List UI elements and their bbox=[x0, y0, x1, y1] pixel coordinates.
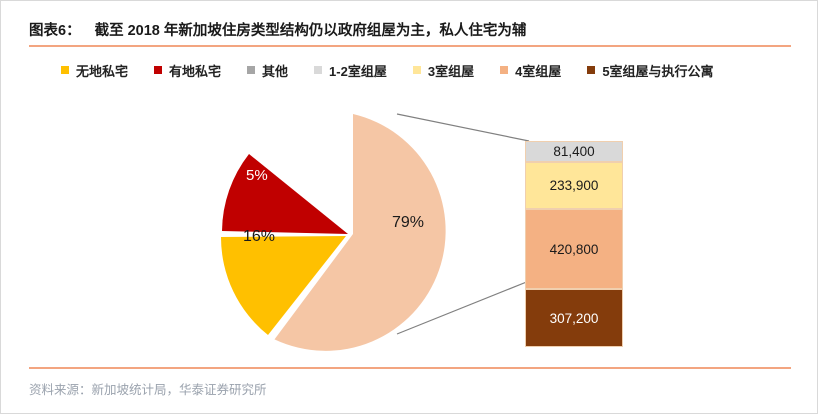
chart-legend: 无地私宅 有地私宅 其他 1-2室组屋 3室组屋 4室组屋 5室组屋与执行公寓 bbox=[61, 59, 806, 81]
figure-container: 图表6： 截至 2018 年新加坡住房类型结构仍以政府组屋为主，私人住宅为辅 无… bbox=[0, 0, 818, 414]
legend-label: 4室组屋 bbox=[515, 61, 561, 80]
legend-label: 5室组屋与执行公寓 bbox=[602, 61, 713, 80]
legend-label: 1-2室组屋 bbox=[329, 61, 387, 80]
legend-item-you-di-si-zhai[interactable]: 有地私宅 bbox=[154, 61, 221, 80]
footer-divider bbox=[29, 367, 791, 369]
stack-segment-value: 307,200 bbox=[550, 311, 599, 326]
stack-segment-3room[interactable]: 233,900 bbox=[525, 162, 623, 209]
legend-swatch-icon bbox=[314, 66, 322, 74]
figure-title-row: 图表6： 截至 2018 年新加坡住房类型结构仍以政府组屋为主，私人住宅为辅 bbox=[29, 19, 799, 43]
chart-plot-area: 5% 16% 79% bbox=[1, 89, 818, 359]
figure-number-label: 图表6： bbox=[29, 19, 81, 40]
stack-segment-other[interactable]: 81,400 bbox=[525, 141, 623, 162]
stack-segment-5room-exec[interactable]: 307,200 bbox=[525, 289, 623, 347]
legend-item-qita[interactable]: 其他 bbox=[247, 61, 288, 80]
stack-segment-value: 420,800 bbox=[550, 242, 599, 257]
legend-item-4-room[interactable]: 4室组屋 bbox=[500, 61, 561, 80]
legend-swatch-icon bbox=[500, 66, 508, 74]
page-title: 截至 2018 年新加坡住房类型结构仍以政府组屋为主，私人住宅为辅 bbox=[95, 19, 527, 40]
legend-swatch-icon bbox=[154, 66, 162, 74]
legend-swatch-icon bbox=[587, 66, 595, 74]
title-divider bbox=[29, 45, 791, 47]
legend-item-1-2-room[interactable]: 1-2室组屋 bbox=[314, 61, 387, 80]
legend-item-5-room-exec[interactable]: 5室组屋与执行公寓 bbox=[587, 61, 713, 80]
source-note: 资料来源：新加坡统计局，华泰证券研究所 bbox=[29, 379, 267, 398]
legend-item-3-room[interactable]: 3室组屋 bbox=[413, 61, 474, 80]
stack-segment-value: 233,900 bbox=[550, 178, 599, 193]
legend-label: 无地私宅 bbox=[76, 61, 128, 80]
stack-segment-4room[interactable]: 420,800 bbox=[525, 209, 623, 289]
legend-swatch-icon bbox=[247, 66, 255, 74]
legend-label: 有地私宅 bbox=[169, 61, 221, 80]
stack-segment-value: 81,400 bbox=[553, 144, 594, 159]
stacked-breakout-bar: 81,400 233,900 420,800 307,200 bbox=[525, 141, 623, 347]
legend-label: 3室组屋 bbox=[428, 61, 474, 80]
legend-swatch-icon bbox=[61, 66, 69, 74]
legend-item-wu-di-si-zhai[interactable]: 无地私宅 bbox=[61, 61, 128, 80]
legend-label: 其他 bbox=[262, 61, 288, 80]
pie-chart-svg bbox=[1, 89, 818, 359]
pie-slice-landed-private[interactable] bbox=[222, 154, 348, 234]
legend-swatch-icon bbox=[413, 66, 421, 74]
callout-line-top bbox=[397, 114, 529, 141]
